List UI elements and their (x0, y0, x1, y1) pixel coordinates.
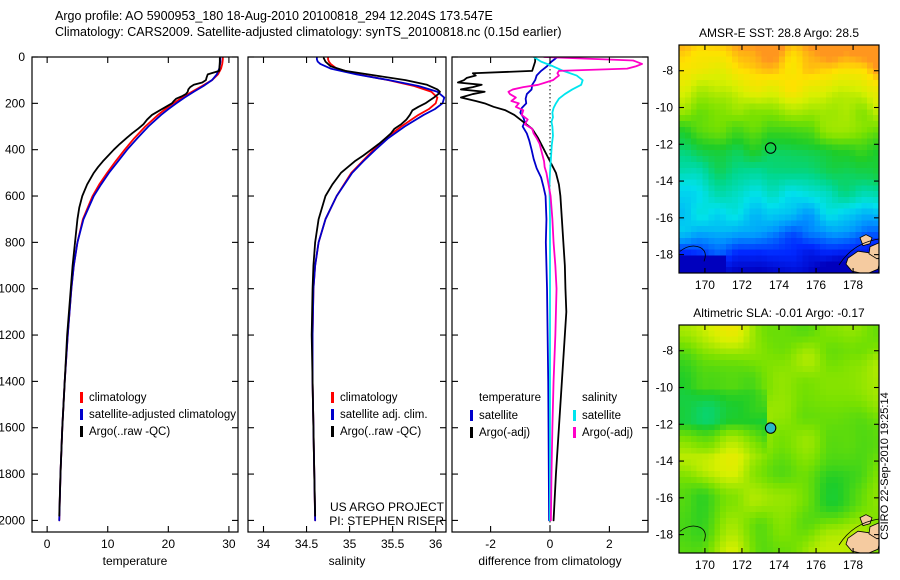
map-cell (844, 86, 851, 93)
map-cell (714, 354, 721, 361)
map-cell (797, 168, 804, 175)
map-cell (861, 448, 868, 455)
map-cell (697, 465, 704, 472)
map-cell (679, 209, 686, 216)
map-cell (832, 174, 839, 181)
map-cell (832, 366, 839, 373)
map-cell (861, 139, 868, 146)
map-cell (703, 506, 710, 513)
map-cell (861, 477, 868, 484)
map-cell (726, 255, 733, 262)
map-cell (867, 127, 874, 134)
map-cell (755, 483, 762, 490)
map-cell (761, 524, 768, 531)
map-cell (708, 209, 715, 216)
map-cell (685, 354, 692, 361)
map-cell (773, 454, 780, 461)
map-cell (826, 68, 833, 75)
map-cell (779, 109, 786, 116)
map-xtick-label-sst: 176 (806, 278, 826, 292)
map-cell (832, 530, 839, 537)
map-cell (808, 197, 815, 204)
map-cell (726, 454, 733, 461)
map-cell (744, 471, 751, 478)
map-ytick-label-sst: -12 (656, 137, 674, 151)
map-cell (685, 436, 692, 443)
map-cell (820, 168, 827, 175)
map-cell (767, 401, 774, 408)
map-cell (785, 448, 792, 455)
map-cell (755, 74, 762, 81)
map-cell (703, 51, 710, 58)
map-cell (679, 337, 686, 344)
map-cell (820, 401, 827, 408)
map-cell (855, 383, 862, 390)
map-cell (838, 424, 845, 431)
map-cell (738, 389, 745, 396)
map-cell (726, 535, 733, 542)
map-cell (767, 98, 774, 105)
map-cell (791, 337, 798, 344)
map-cell (832, 74, 839, 81)
map-cell (685, 156, 692, 163)
map-cell (726, 518, 733, 525)
map-cell (791, 103, 798, 110)
map-cell (779, 238, 786, 245)
map-cell (703, 325, 710, 332)
panel-difference: -202difference from climatology (452, 57, 648, 568)
map-cell (738, 261, 745, 268)
map-cell (750, 483, 757, 490)
map-cell (726, 541, 733, 548)
map-cell (850, 133, 857, 140)
map-cell (750, 448, 757, 455)
map-cell (697, 348, 704, 355)
map-cell (844, 354, 851, 361)
map-cell (838, 366, 845, 373)
map-cell (814, 378, 821, 385)
map-cell (726, 238, 733, 245)
map-cell (808, 471, 815, 478)
map-cell (767, 378, 774, 385)
map-cell (679, 45, 686, 52)
map-cell (797, 378, 804, 385)
map-cell (750, 144, 757, 151)
map-cell (814, 127, 821, 134)
map-cell (761, 348, 768, 355)
map-cell (720, 168, 727, 175)
map-cell (708, 325, 715, 332)
map-cell (761, 512, 768, 519)
map-cell (755, 115, 762, 122)
map-cell (767, 68, 774, 75)
map-cell (850, 232, 857, 239)
map-cell (773, 57, 780, 64)
map-cell (850, 407, 857, 414)
map-cell (779, 378, 786, 385)
map-cell (850, 436, 857, 443)
map-cell (855, 203, 862, 210)
map-cell (738, 115, 745, 122)
map-cell (708, 185, 715, 192)
map-cell (785, 261, 792, 268)
map-cell (679, 261, 686, 268)
map-cell (720, 448, 727, 455)
map-cell (855, 144, 862, 151)
map-cell (803, 465, 810, 472)
map-cell (832, 500, 839, 507)
xtick-label-temperature: 20 (162, 537, 176, 551)
xtick-label-difference: 2 (606, 537, 613, 551)
map-cell (838, 383, 845, 390)
map-cell (726, 139, 733, 146)
map-cell (832, 115, 839, 122)
map-cell (797, 209, 804, 216)
map-cell (785, 250, 792, 257)
map-cell (861, 220, 868, 227)
map-cell (797, 121, 804, 128)
map-cell (785, 162, 792, 169)
map-cell (767, 92, 774, 99)
map-cell (797, 74, 804, 81)
map-cell (803, 220, 810, 227)
map-cell (679, 354, 686, 361)
map-cell (855, 109, 862, 116)
map-cell (703, 57, 710, 64)
map-cell (726, 197, 733, 204)
map-cell (832, 471, 839, 478)
map-cell (761, 255, 768, 262)
map-cell (697, 174, 704, 181)
map-cell (703, 448, 710, 455)
map-cell (855, 133, 862, 140)
xaxis-label-difference: difference from climatology (478, 554, 621, 568)
map-cell (867, 454, 874, 461)
map-cell (779, 127, 786, 134)
map-cell (855, 366, 862, 373)
map-cell (708, 63, 715, 70)
map-cell (738, 232, 745, 239)
map-cell (720, 419, 727, 426)
map-cell (691, 535, 698, 542)
map-cell (720, 244, 727, 251)
map-cell (779, 63, 786, 70)
map-cell (732, 360, 739, 367)
map-cell (844, 45, 851, 52)
map-cell (832, 331, 839, 338)
map-cell (838, 197, 845, 204)
map-cell (838, 471, 845, 478)
map-cell (832, 250, 839, 257)
map-cell (826, 424, 833, 431)
map-cell (691, 215, 698, 222)
map-cell (844, 360, 851, 367)
map-cell (685, 261, 692, 268)
map-cell (803, 74, 810, 81)
map-cell (779, 133, 786, 140)
map-cell (844, 197, 851, 204)
map-cell (750, 360, 757, 367)
map-cell (738, 442, 745, 449)
panel-salinity: 3434.53535.536salinity (248, 57, 446, 568)
map-cell (750, 63, 757, 70)
map-cell (708, 378, 715, 385)
map-cell (691, 80, 698, 87)
map-cell (779, 191, 786, 198)
map-cell (850, 489, 857, 496)
map-cell (844, 442, 851, 449)
map-cell (797, 92, 804, 99)
map-cell (697, 389, 704, 396)
map-cell (814, 255, 821, 262)
map-cell (761, 45, 768, 52)
figure-canvas: 0102030020040060080010001200140016001800… (0, 0, 900, 580)
map-cell (850, 63, 857, 70)
map-cell (714, 185, 721, 192)
map-cell (838, 92, 845, 99)
map-cell (732, 448, 739, 455)
map-cell (867, 168, 874, 175)
map-cell (744, 506, 751, 513)
legend-swatch-temperature_satellite (470, 410, 473, 421)
map-title-sst: AMSR-E SST: 28.8 Argo: 28.5 (699, 26, 859, 40)
map-cell (703, 454, 710, 461)
map-cell (797, 238, 804, 245)
map-cell (838, 162, 845, 169)
map-cell (785, 419, 792, 426)
map-cell (738, 127, 745, 134)
map-cell (697, 378, 704, 385)
map-cell (767, 115, 774, 122)
map-cell (820, 407, 827, 414)
map-cell (697, 477, 704, 484)
map-cell (714, 419, 721, 426)
map-cell (803, 506, 810, 513)
map-cell (744, 489, 751, 496)
map-cell (826, 139, 833, 146)
map-cell (726, 209, 733, 216)
map-cell (744, 518, 751, 525)
map-cell (861, 45, 868, 52)
xtick-label-temperature: 10 (101, 537, 115, 551)
map-ytick-label-sla: -10 (656, 381, 674, 395)
map-cell (708, 179, 715, 186)
map-cell (785, 518, 792, 525)
map-cell (779, 454, 786, 461)
map-cell (761, 343, 768, 350)
map-cell (697, 103, 704, 110)
map-cell (844, 215, 851, 222)
map-cell (755, 162, 762, 169)
map-cell (679, 366, 686, 373)
map-cell (761, 401, 768, 408)
map-cell (691, 424, 698, 431)
map-cell (714, 168, 721, 175)
map-cell (726, 395, 733, 402)
map-cell (767, 74, 774, 81)
map-cell (679, 518, 686, 525)
map-cell (826, 541, 833, 548)
map-cell (855, 419, 862, 426)
map-cell (732, 255, 739, 262)
xtick-label-temperature: 30 (222, 537, 236, 551)
map-cell (691, 401, 698, 408)
map-ytick-label-sst: -10 (656, 101, 674, 115)
map-cell (808, 238, 815, 245)
map-cell (755, 156, 762, 163)
map-cell (714, 454, 721, 461)
map-cell (708, 232, 715, 239)
map-cell (703, 244, 710, 251)
map-cell (797, 419, 804, 426)
map-cell (850, 430, 857, 437)
map-cell (685, 512, 692, 519)
map-cell (867, 121, 874, 128)
map-cell (755, 389, 762, 396)
map-cell (838, 495, 845, 502)
map-cell (844, 337, 851, 344)
map-cell (803, 109, 810, 116)
map-cell (855, 354, 862, 361)
map-cell (808, 115, 815, 122)
map-cell (832, 354, 839, 361)
map-cell (691, 144, 698, 151)
map-cell (785, 80, 792, 87)
map-cell (791, 419, 798, 426)
map-cell (850, 500, 857, 507)
map-cell (761, 226, 768, 233)
map-cell (814, 331, 821, 338)
map-cell (726, 424, 733, 431)
map-cell (761, 448, 768, 455)
map-cell (685, 360, 692, 367)
map-cell (714, 407, 721, 414)
map-cell (779, 389, 786, 396)
map-cell (838, 530, 845, 537)
map-cell (767, 448, 774, 455)
map-cell (779, 209, 786, 216)
map-cell (708, 337, 715, 344)
map-cell (697, 430, 704, 437)
map-cell (855, 348, 862, 355)
map-cell (855, 115, 862, 122)
map-cell (791, 383, 798, 390)
map-cell (820, 530, 827, 537)
map-cell (767, 413, 774, 420)
map-cell (797, 139, 804, 146)
map-cell (703, 232, 710, 239)
map-cell (861, 68, 868, 75)
map-cell (797, 115, 804, 122)
map-cell (697, 454, 704, 461)
map-cell (814, 506, 821, 513)
map-cell (679, 185, 686, 192)
map-cell (838, 337, 845, 344)
map-cell (791, 459, 798, 466)
map-cell (703, 401, 710, 408)
map-cell (697, 57, 704, 64)
map-cell (797, 144, 804, 151)
map-cell (855, 459, 862, 466)
map-cell (738, 372, 745, 379)
map-cell (703, 459, 710, 466)
map-cell (720, 255, 727, 262)
map-cell (785, 209, 792, 216)
map-cell (750, 98, 757, 105)
map-cell (808, 86, 815, 93)
map-cell (691, 127, 698, 134)
map-cell (838, 407, 845, 414)
map-cell (838, 442, 845, 449)
map-cell (867, 459, 874, 466)
map-cell (826, 80, 833, 87)
map-cell (685, 127, 692, 134)
map-cell (697, 185, 704, 192)
map-cell (826, 162, 833, 169)
map-cell (850, 343, 857, 350)
map-cell (803, 442, 810, 449)
map-cell (850, 448, 857, 455)
map-cell (767, 191, 774, 198)
map-cell (797, 232, 804, 239)
map-field-sst (679, 45, 900, 274)
map-cell (785, 506, 792, 513)
map-cell (714, 226, 721, 233)
map-cell (785, 179, 792, 186)
map-cell (844, 401, 851, 408)
map-cell (732, 144, 739, 151)
map-cell (773, 197, 780, 204)
map-cell (732, 162, 739, 169)
map-cell (750, 226, 757, 233)
map-cell (738, 220, 745, 227)
map-cell (703, 389, 710, 396)
legend-swatch-temperature_argo (470, 427, 473, 438)
map-cell (785, 98, 792, 105)
map-cell (720, 226, 727, 233)
map-cell (814, 168, 821, 175)
map-cell (779, 156, 786, 163)
map-cell (732, 459, 739, 466)
map-cell (803, 127, 810, 134)
map-cell (785, 459, 792, 466)
map-cell (861, 109, 868, 116)
map-cell (861, 80, 868, 87)
map-cell (779, 530, 786, 537)
map-cell (738, 366, 745, 373)
map-cell (785, 325, 792, 332)
map-cell (785, 524, 792, 531)
map-cell (838, 250, 845, 257)
map-cell (791, 413, 798, 420)
map-cell (850, 115, 857, 122)
map-cell (855, 506, 862, 513)
map-cell (773, 86, 780, 93)
map-cell (803, 448, 810, 455)
map-cell (861, 203, 868, 210)
map-cell (814, 471, 821, 478)
map-cell (773, 331, 780, 338)
map-cell (820, 86, 827, 93)
map-cell (738, 436, 745, 443)
map-cell (761, 215, 768, 222)
map-cell (726, 109, 733, 116)
map-cell (838, 413, 845, 420)
map-cell (761, 197, 768, 204)
map-cell (773, 156, 780, 163)
map-cell (744, 156, 751, 163)
map-cell (791, 168, 798, 175)
